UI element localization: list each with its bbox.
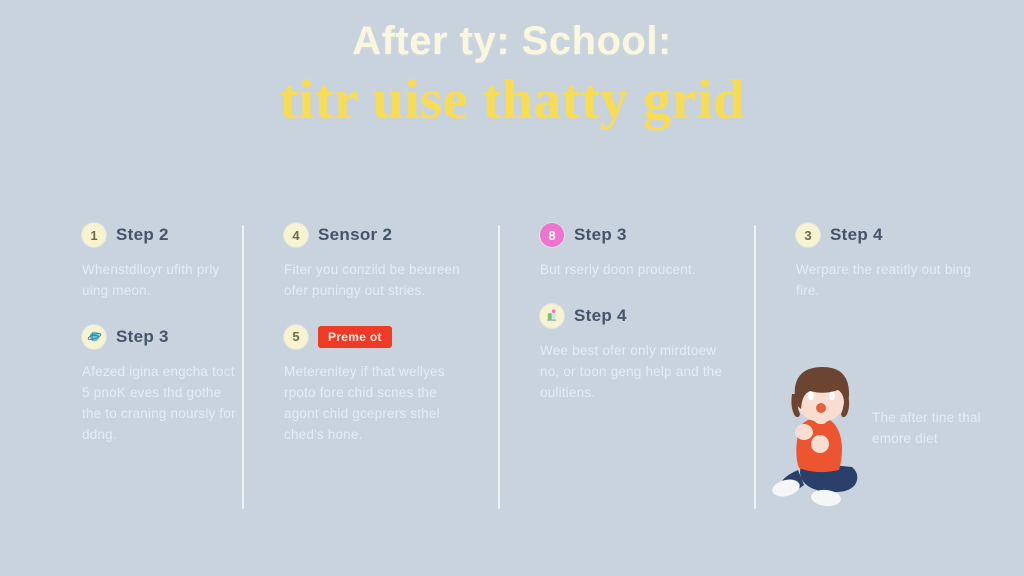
step-header: Step 4 (540, 303, 750, 329)
step-number-badge: 4 (284, 223, 308, 247)
step-card[interactable]: 4 Sensor 2 Fiter you conzild be beureen … (284, 222, 494, 302)
step-number-badge: 5 (284, 325, 308, 349)
step-header: Step 3 (82, 324, 238, 350)
step-body-text: Afezed igina engcha toct 5 pnoK eves thd… (82, 362, 238, 446)
steps-column-1: 1 Step 2 Whenstdlloyr ufith prly uing me… (0, 222, 256, 502)
step-body-text: Whenstdlloyr ufith prly uing meon. (82, 260, 238, 302)
step-body-text: Werpare the reatitly out bing fire. (796, 260, 976, 302)
step-title: Sensor 2 (318, 225, 392, 245)
step-body-text: Wee best ofer only mirdtoew no, or toon … (540, 341, 730, 404)
step-card[interactable]: 1 Step 2 Whenstdlloyr ufith prly uing me… (82, 222, 238, 302)
step-card[interactable]: 8 Step 3 But rserly doon proucent. (540, 222, 750, 281)
poster-canvas: After ty: School: titr uise thatty grid … (0, 0, 1024, 576)
step-card[interactable]: Step 3 Afezed igina engcha toct 5 pnoK e… (82, 324, 238, 446)
step-header: 3 Step 4 (796, 222, 1006, 248)
step-header: 4 Sensor 2 (284, 222, 494, 248)
step-number-badge: 8 (540, 223, 564, 247)
plant-icon (540, 304, 564, 328)
step-header: 5 Preme ot (284, 324, 494, 350)
step-number-badge: 1 (82, 223, 106, 247)
step-header: 1 Step 2 (82, 222, 238, 248)
step-card[interactable]: 3 Step 4 Werpare the reatitly out bing f… (796, 222, 1006, 302)
step-body-text: But rserly doon proucent. (540, 260, 730, 281)
step-card[interactable]: Step 4 Wee best ofer only mirdtoew no, o… (540, 303, 750, 404)
steps-column-3: 8 Step 3 But rserly doon proucent. (512, 222, 768, 502)
page-title-main: After ty: School: (0, 20, 1024, 62)
status-badge[interactable]: Preme ot (318, 326, 392, 348)
step-card[interactable]: 5 Preme ot Meterenitey if that wellyes r… (284, 324, 494, 446)
step-title: Step 3 (574, 225, 627, 245)
step-body-text: Fiter you conzild be beureen ofer puning… (284, 260, 474, 302)
globe-icon (82, 325, 106, 349)
step-title: Step 3 (116, 327, 169, 347)
illustration-caption: The after tine thal emore diet (872, 408, 1022, 450)
header: After ty: School: titr uise thatty grid (0, 20, 1024, 132)
step-body-text: Meterenitey if that wellyes rpoto fore c… (284, 362, 474, 446)
step-title: Step 2 (116, 225, 169, 245)
steps-column-2: 4 Sensor 2 Fiter you conzild be beureen … (256, 222, 512, 502)
page-title-sub: titr uise thatty grid (0, 68, 1024, 132)
step-header: 8 Step 3 (540, 222, 750, 248)
step-number-badge: 3 (796, 223, 820, 247)
sitting-child-illustration (768, 358, 886, 508)
step-title: Step 4 (830, 225, 883, 245)
step-title: Step 4 (574, 306, 627, 326)
